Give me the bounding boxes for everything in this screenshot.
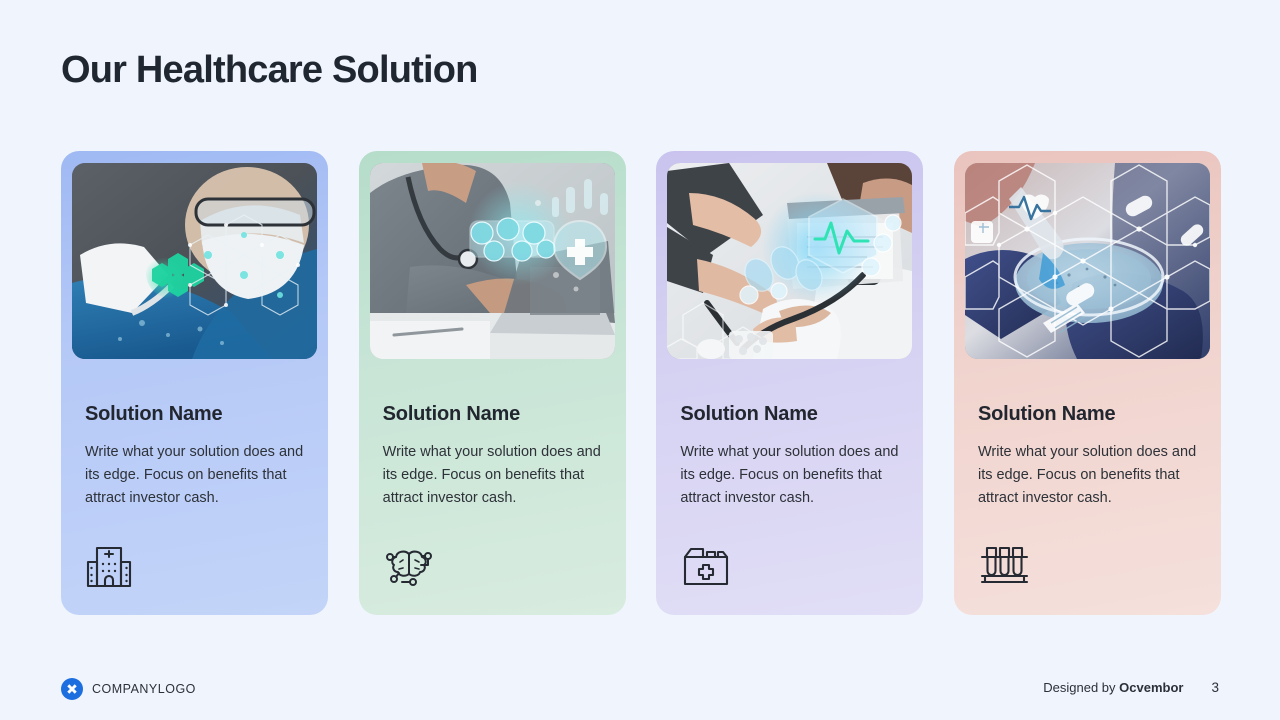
page-number: 3 bbox=[1211, 680, 1219, 695]
card-heading: Solution Name bbox=[85, 403, 222, 426]
card-body-text: Write what your solution does and its ed… bbox=[978, 441, 1203, 510]
card-photo bbox=[370, 163, 615, 359]
solution-card[interactable]: Solution Name Write what your solution d… bbox=[61, 151, 328, 615]
solution-card[interactable]: Solution Name Write what your solution d… bbox=[359, 151, 626, 615]
hospital-building-icon bbox=[85, 544, 137, 588]
company-logo-text: COMPANYLOGO bbox=[92, 682, 196, 696]
medical-cross-logo-icon bbox=[61, 678, 83, 700]
card-body-text: Write what your solution does and its ed… bbox=[680, 441, 905, 510]
test-tube-rack-icon bbox=[978, 544, 1030, 588]
designer-name: Ocvembor bbox=[1119, 680, 1183, 695]
designed-by-credit: Designed by Ocvembor bbox=[1043, 680, 1183, 695]
card-photo bbox=[965, 163, 1210, 359]
solution-card[interactable]: Solution Name Write what your solution d… bbox=[656, 151, 923, 615]
card-heading: Solution Name bbox=[978, 403, 1115, 426]
ai-brain-network-icon bbox=[383, 544, 435, 588]
solution-card[interactable]: Solution Name Write what your solution d… bbox=[954, 151, 1221, 615]
medical-kit-icon bbox=[680, 544, 732, 588]
page-title: Our Healthcare Solution bbox=[61, 48, 478, 94]
card-photo bbox=[72, 163, 317, 359]
card-heading: Solution Name bbox=[680, 403, 817, 426]
designed-by-prefix: Designed by bbox=[1043, 680, 1115, 695]
card-body-text: Write what your solution does and its ed… bbox=[383, 441, 608, 510]
footer-logo-group: COMPANYLOGO bbox=[61, 678, 196, 700]
card-photo bbox=[667, 163, 912, 359]
card-heading: Solution Name bbox=[383, 403, 520, 426]
solution-cards-row: Solution Name Write what your solution d… bbox=[61, 151, 1221, 615]
card-body-text: Write what your solution does and its ed… bbox=[85, 441, 310, 510]
footer-credit-group: Designed by Ocvembor 3 bbox=[1043, 680, 1219, 695]
slide-root: Our Healthcare Solution bbox=[0, 0, 1280, 720]
